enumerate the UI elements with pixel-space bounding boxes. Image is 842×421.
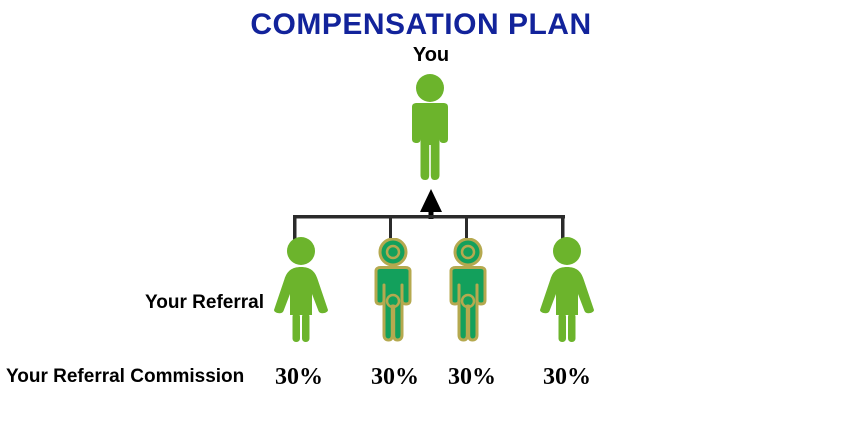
arrow-up-icon <box>420 189 442 219</box>
person-female-icon <box>536 236 598 344</box>
commission-value: 30% <box>437 364 507 391</box>
person-male-icon <box>367 238 419 342</box>
compensation-plan-diagram: COMPENSATION PLAN You <box>0 0 842 421</box>
row-label-your-referral: Your Referral <box>0 292 264 314</box>
page-title: COMPENSATION PLAN <box>0 8 842 42</box>
root-node-label: You <box>381 44 481 67</box>
person-male-icon <box>442 238 494 342</box>
person-female-icon <box>270 236 332 344</box>
commission-value: 30% <box>264 364 334 391</box>
commission-value: 30% <box>532 364 602 391</box>
row-label-your-referral-commission: Your Referral Commission <box>6 366 244 388</box>
commission-value: 30% <box>360 364 430 391</box>
person-male-icon <box>401 73 459 183</box>
